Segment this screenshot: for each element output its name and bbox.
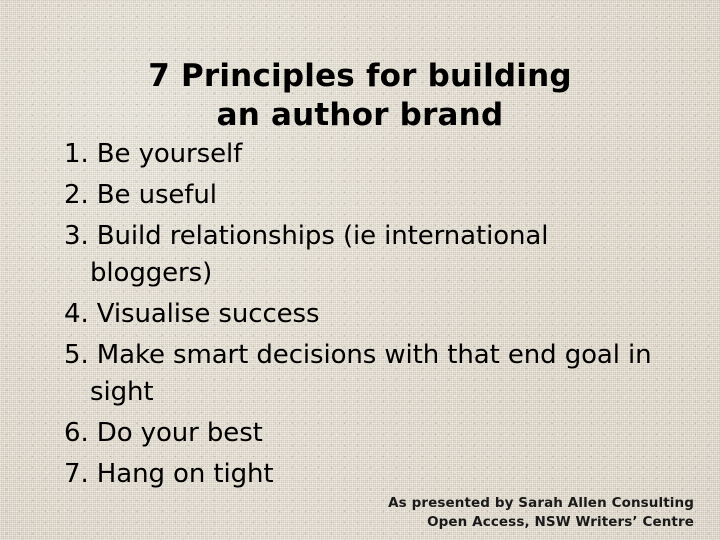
list-item-number: 7. [64, 459, 89, 489]
list-item-label: Build relationships (ie international bl… [90, 221, 548, 288]
list-item: 5. Make smart decisions with that end go… [64, 337, 664, 411]
list-item: 7. Hang on tight [64, 456, 664, 493]
footer-credit: As presented by Sarah Allen Consulting O… [388, 494, 694, 532]
list-item-label: Visualise success [97, 299, 320, 329]
list-item: 1. Be yourself [64, 136, 664, 173]
list-item-number: 6. [64, 418, 89, 448]
list-item-number: 3. [64, 221, 89, 251]
slide-title: 7 Principles for building an author bran… [0, 57, 720, 135]
slide-title-line-2: an author brand [0, 96, 720, 135]
list-item-label: Be yourself [97, 139, 242, 169]
list-item-number: 1. [64, 139, 89, 169]
list-item-number: 4. [64, 299, 89, 329]
list-item: 2. Be useful [64, 177, 664, 214]
list-item-label: Do your best [97, 418, 263, 448]
list-item-label: Hang on tight [97, 459, 274, 489]
list-item-number: 5. [64, 340, 89, 370]
footer-credit-line-2: Open Access, NSW Writers’ Centre [388, 513, 694, 532]
list-item-label: Make smart decisions with that end goal … [90, 340, 652, 407]
list-item: 4. Visualise success [64, 296, 664, 333]
list-item-label: Be useful [97, 180, 217, 210]
slide-content: 7 Principles for building an author bran… [0, 0, 720, 540]
list-item-number: 2. [64, 180, 89, 210]
footer-credit-line-1: As presented by Sarah Allen Consulting [388, 494, 694, 513]
list-item: 6. Do your best [64, 415, 664, 452]
slide-title-line-1: 7 Principles for building [0, 57, 720, 96]
list-item: 3. Build relationships (ie international… [64, 218, 664, 292]
principles-list: 1. Be yourself 2. Be useful 3. Build rel… [64, 136, 664, 497]
presentation-slide: 7 Principles for building an author bran… [0, 0, 720, 540]
